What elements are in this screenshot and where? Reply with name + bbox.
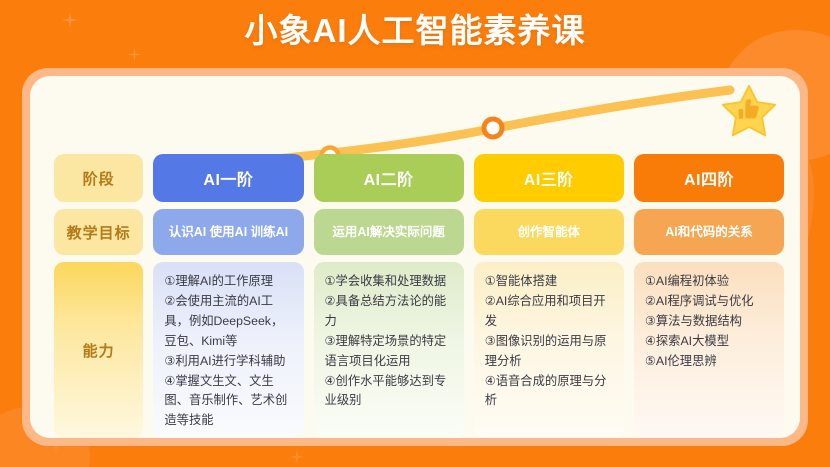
ability-item: ⑤AI伦理思辨 [645,352,775,372]
stage-goal-ai-3: 创作智能体 [474,209,624,255]
ability-item: ④语音合成的原理与分析 [485,372,615,412]
row-label-stage: 阶段 [54,154,143,202]
ability-item: ①智能体搭建 [485,272,615,292]
row-label-ability: 能力 [54,262,143,438]
stage-column-ai-3: AI三阶 创作智能体 ①智能体搭建 ②AI综合应用和项目开发 ③图像识别的运用与… [474,154,624,438]
ability-item: ③图像识别的运用与原理分析 [485,332,615,372]
ability-item: ①AI编程初体验 [645,272,775,292]
stage-abilities-ai-4: ①AI编程初体验 ②AI程序调试与优化 ③算法与数据结构 ④探索AI大模型 ⑤A… [634,262,784,438]
stage-column-ai-4: AI四阶 AI和代码的关系 ①AI编程初体验 ②AI程序调试与优化 ③算法与数据… [634,154,784,438]
row-label-teaching-goal: 教学目标 [54,209,143,255]
stage-column-ai-2: AI二阶 运用AI解决实际问题 ①学会收集和处理数据 ②具备总结方法论的能力 ③… [314,154,464,438]
star-thumbs-up-icon [720,84,778,140]
curriculum-table: 阶段 教学目标 能力 AI一阶 认识AI 使用AI 训练AI ①理解AI的工作原… [54,154,784,438]
content-card-inner: 阶段 教学目标 能力 AI一阶 认识AI 使用AI 训练AI ①理解AI的工作原… [30,76,800,438]
ability-item: ④创作水平能够达到专业级别 [325,372,455,412]
stage-abilities-ai-2: ①学会收集和处理数据 ②具备总结方法论的能力 ③理解特定场景的特定语言项目化运用… [314,262,464,438]
curve-node-3 [484,119,502,137]
sparkle-icon [290,450,304,464]
page-title: 小象AI人工智能素养课 [0,8,830,54]
ability-item: ②AI综合应用和项目开发 [485,292,615,332]
stage-column-ai-1: AI一阶 认识AI 使用AI 训练AI ①理解AI的工作原理 ②会使用主流的AI… [153,154,303,438]
ability-item: ④探索AI大模型 [645,332,775,352]
stage-goal-ai-4: AI和代码的关系 [634,209,784,255]
ability-item: ③利用AI进行学科辅助 [164,352,294,372]
ability-item: ③算法与数据结构 [645,312,775,332]
stage-goal-ai-2: 运用AI解决实际问题 [314,209,464,255]
ability-item: ①理解AI的工作原理 [164,272,294,292]
ability-item: ②AI程序调试与优化 [645,292,775,312]
stage-title-ai-2: AI二阶 [314,154,464,202]
ability-item: ④掌握文生文、文生图、音乐制作、艺术创造等技能 [164,372,294,432]
stage-title-ai-1: AI一阶 [153,154,303,202]
ability-item: ③理解特定场景的特定语言项目化运用 [325,332,455,372]
ability-item: ②会使用主流的AI工具，例如DeepSeek，豆包、Kimi等 [164,292,294,352]
content-card: 阶段 教学目标 能力 AI一阶 认识AI 使用AI 训练AI ①理解AI的工作原… [22,68,808,446]
ability-item: ②具备总结方法论的能力 [325,292,455,332]
stage-abilities-ai-3: ①智能体搭建 ②AI综合应用和项目开发 ③图像识别的运用与原理分析 ④语音合成的… [474,262,624,438]
stage-title-ai-3: AI三阶 [474,154,624,202]
ability-item: ①学会收集和处理数据 [325,272,455,292]
stage-goal-ai-1: 认识AI 使用AI 训练AI [153,209,303,255]
stage-abilities-ai-1: ①理解AI的工作原理 ②会使用主流的AI工具，例如DeepSeek，豆包、Kim… [153,262,303,438]
table-row-label-column: 阶段 教学目标 能力 [54,154,143,438]
stage-title-ai-4: AI四阶 [634,154,784,202]
